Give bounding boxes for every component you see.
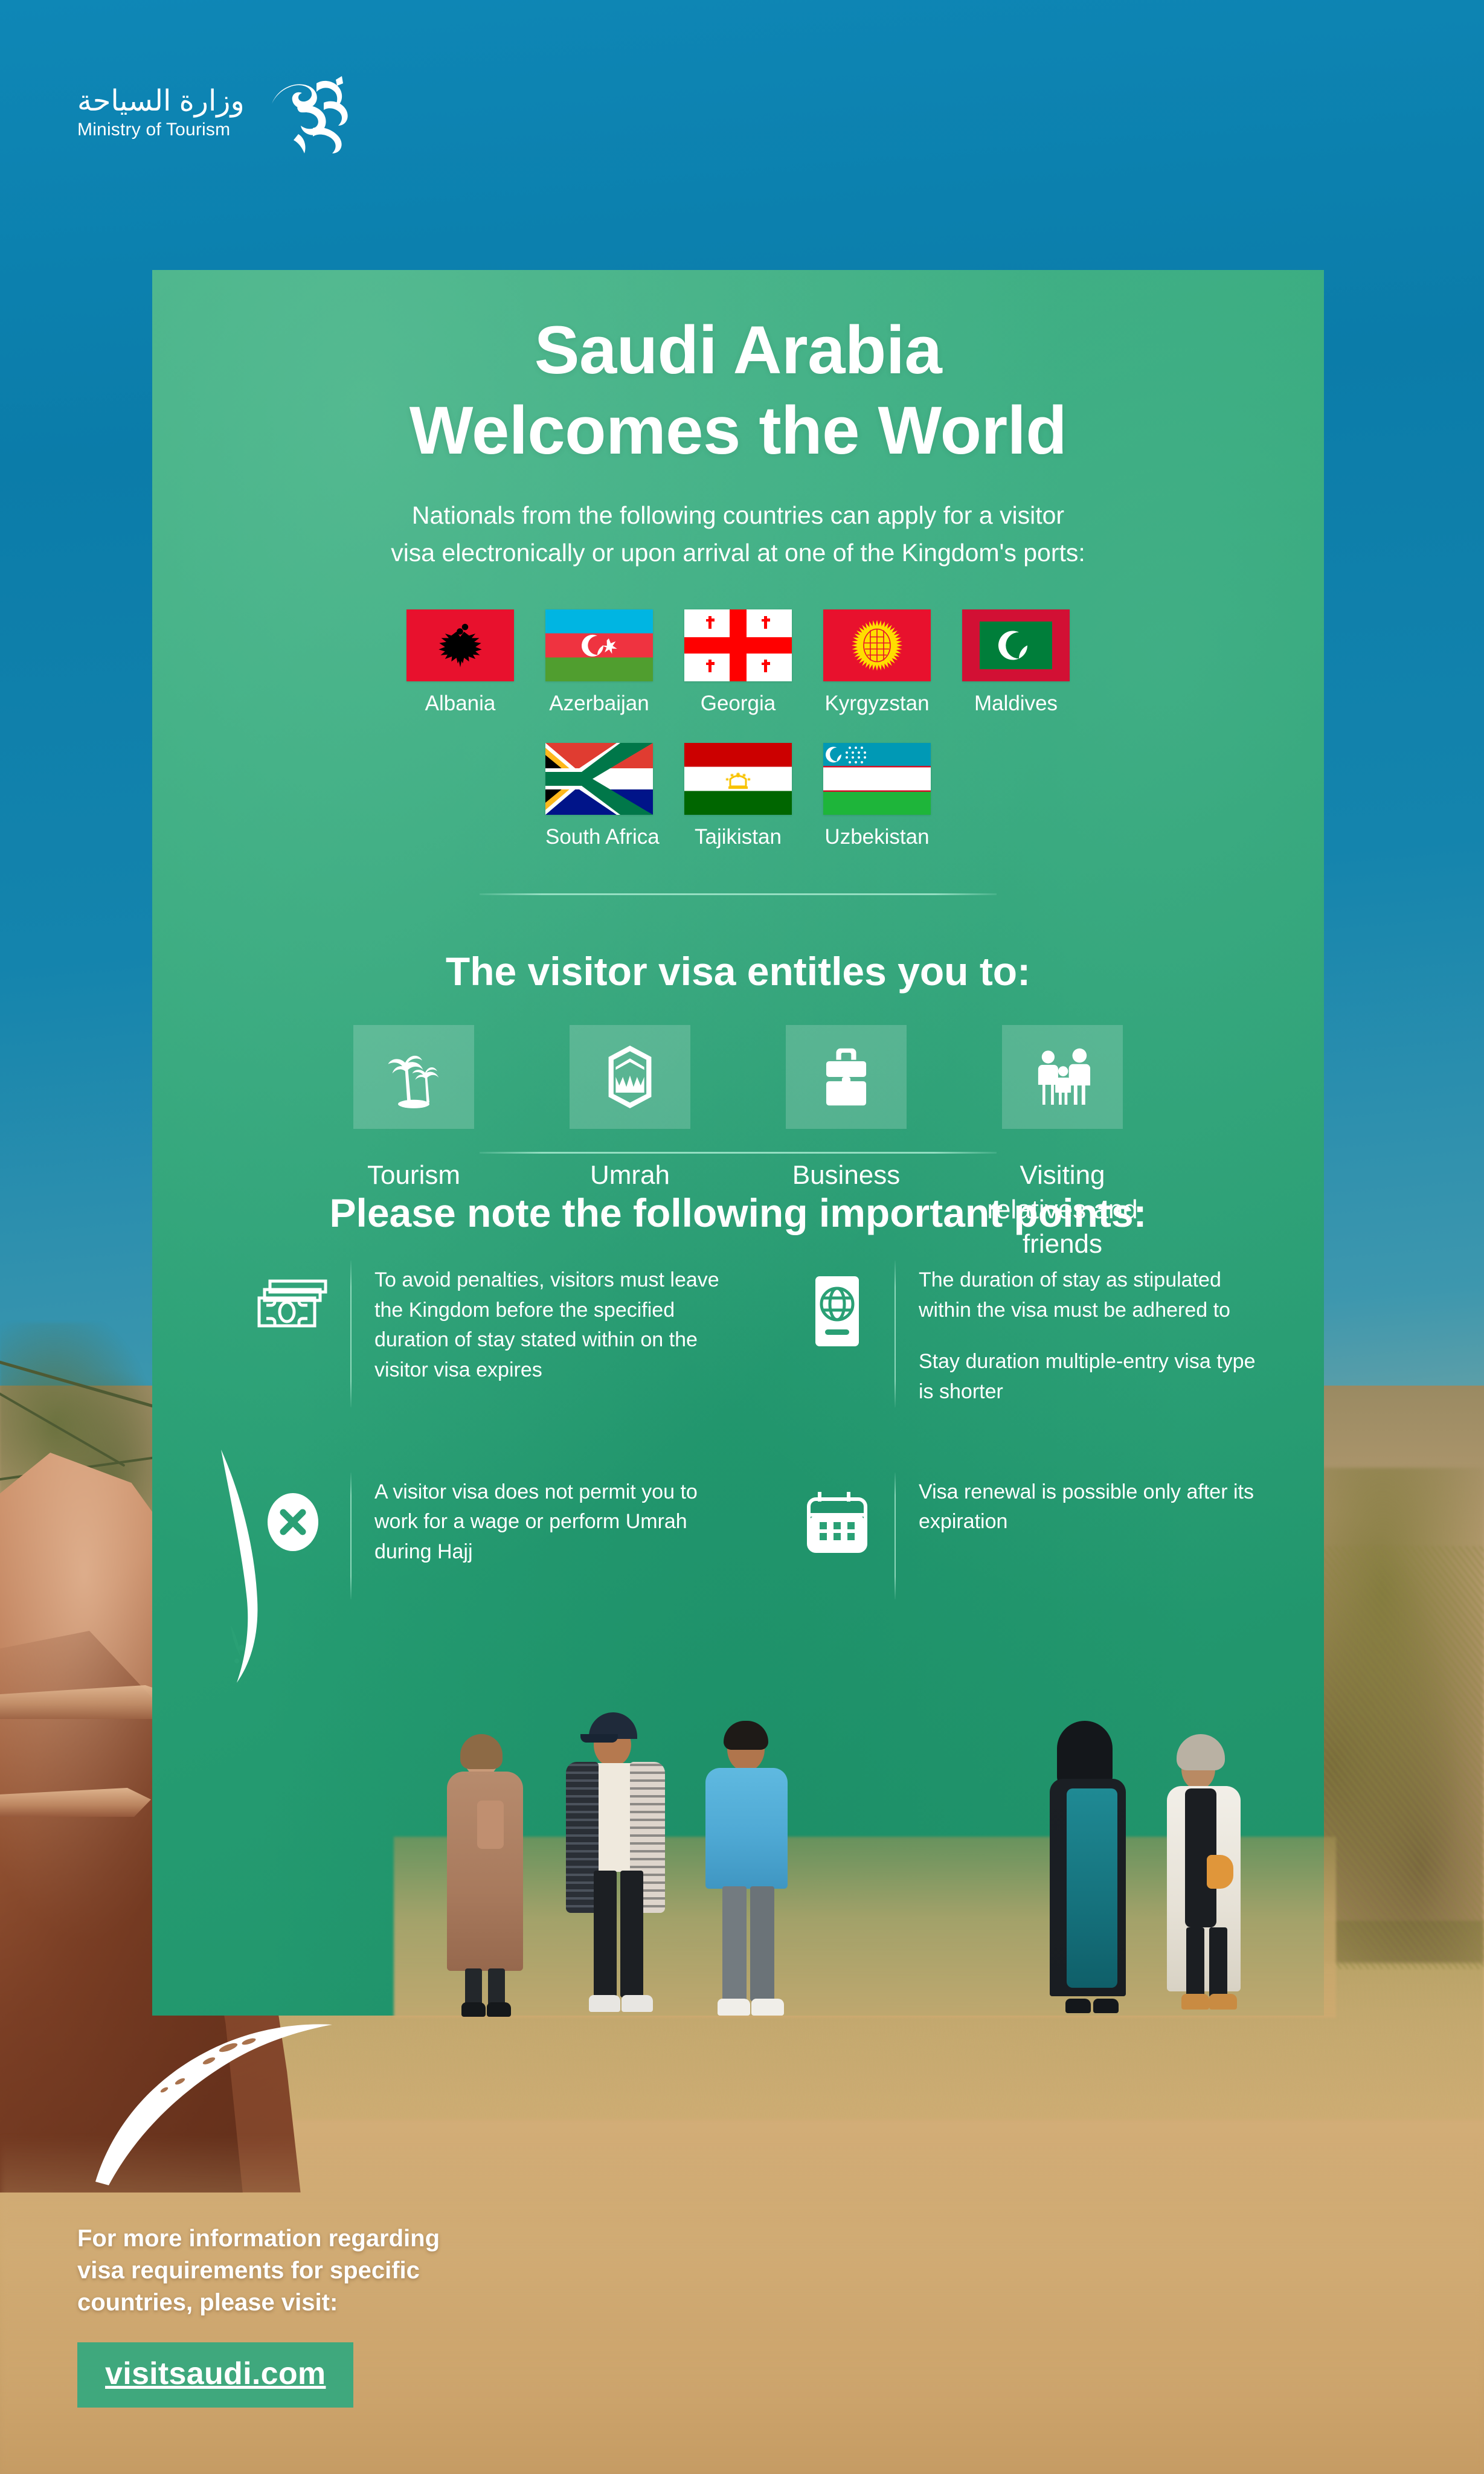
person-turban — [1177, 1734, 1225, 1770]
footer-line-2: visa requirements for specific — [77, 2257, 420, 2284]
tourism-calligraphy-emblem-icon — [260, 68, 352, 158]
entitlement-label: Tourism — [367, 1158, 460, 1192]
person-shoe — [622, 1995, 653, 2012]
briefcase-icon — [811, 1041, 882, 1113]
albania-flag-icon — [406, 609, 514, 681]
page-title: Saudi Arabia Welcomes the World — [152, 310, 1324, 471]
banknotes-icon — [254, 1274, 332, 1334]
country-item-uzbekistan: Uzbekistan — [823, 743, 931, 850]
entitlement-label: Umrah — [590, 1158, 670, 1192]
country-label: Maldives — [962, 691, 1070, 716]
calligraphy-brush-stroke-vertical-icon — [199, 1444, 314, 1685]
kyrgyzstan-flag-icon — [823, 609, 931, 681]
person-shawl — [1067, 1788, 1117, 1988]
family-icon — [1027, 1041, 1098, 1113]
country-item-kyrgyzstan: Kyrgyzstan — [823, 609, 931, 716]
country-item-tajikistan: Tajikistan — [684, 743, 792, 850]
person-leg — [488, 1968, 505, 2006]
maldives-flag-icon — [962, 609, 1070, 681]
footer-block: For more information regarding visa requ… — [77, 2223, 440, 2408]
country-label: Uzbekistan — [823, 824, 931, 850]
point-icon-wrap — [780, 1473, 895, 1557]
point-body: To avoid penalties, visitors must leave … — [374, 1261, 722, 1386]
point-divider-rule — [895, 1473, 896, 1599]
entitlement-label: Business — [792, 1158, 901, 1192]
person-leg — [722, 1886, 747, 2001]
person-leg — [594, 1871, 617, 1997]
footer-text: For more information regarding visa requ… — [77, 2223, 440, 2318]
person-shoe — [751, 1999, 784, 2016]
ministry-logo: وزارة السياحة Ministry of Tourism — [77, 68, 352, 158]
country-flags-row-1: Albania Azerbaijan — [152, 609, 1324, 716]
important-points-grid: To avoid penalties, visitors must leave … — [236, 1261, 1266, 1599]
country-item-azerbaijan: Azerbaijan — [545, 609, 653, 716]
person-hair — [460, 1734, 503, 1769]
country-item-south-africa: South Africa — [545, 743, 653, 850]
tajikistan-flag-icon — [684, 743, 792, 815]
section-divider — [480, 1152, 997, 1154]
entitlement-icon-tile — [1002, 1025, 1123, 1129]
entitlements-heading: The visitor visa entitles you to: — [152, 948, 1324, 995]
important-point-item: To avoid penalties, visitors must leave … — [236, 1261, 722, 1407]
point-text: Stay duration multiple-entry visa type i… — [919, 1347, 1266, 1407]
country-label: Georgia — [684, 691, 792, 716]
country-item-maldives: Maldives — [962, 609, 1070, 716]
person-shoe — [589, 1995, 620, 2012]
person-shoe — [718, 1999, 750, 2016]
point-icon-wrap — [780, 1261, 895, 1349]
person-shoe — [461, 2002, 486, 2017]
palm-trees-icon — [378, 1041, 449, 1113]
person-leg — [620, 1871, 643, 1997]
calligraphy-brush-stroke-horizontal-icon — [91, 1987, 356, 2186]
country-item-albania: Albania — [406, 609, 514, 716]
calendar-icon — [801, 1486, 873, 1557]
person-leg — [1186, 1927, 1204, 1997]
visitsaudi-link-button[interactable]: visitsaudi.com — [77, 2342, 353, 2408]
country-item-georgia: Georgia — [684, 609, 792, 716]
country-label: Kyrgyzstan — [823, 691, 931, 716]
uzbekistan-flag-icon — [823, 743, 931, 815]
georgia-flag-icon — [684, 609, 792, 681]
country-label: Tajikistan — [684, 824, 792, 850]
person-hair — [724, 1721, 768, 1750]
person-leg — [1209, 1927, 1227, 1997]
footer-line-3: countries, please visit: — [77, 2289, 338, 2316]
footer-line-1: For more information regarding — [77, 2225, 440, 2252]
person-torso — [705, 1768, 788, 1889]
kaaba-icon — [594, 1041, 666, 1113]
subtitle-line-1: Nationals from the following countries c… — [412, 501, 1064, 529]
country-flags-row-2: South Africa — [152, 743, 1324, 850]
person-shoe — [1065, 1999, 1091, 2013]
title-line-2: Welcomes the World — [410, 393, 1067, 468]
point-text: The duration of stay as stipulated withi… — [919, 1265, 1266, 1325]
important-point-item: The duration of stay as stipulated withi… — [780, 1261, 1266, 1407]
point-text: To avoid penalties, visitors must leave … — [374, 1265, 722, 1386]
entitlement-icon-tile — [353, 1025, 474, 1129]
hero-subtitle: Nationals from the following countries c… — [152, 496, 1324, 572]
important-points-heading: Please note the following important poin… — [152, 1189, 1324, 1237]
person-cap-brim — [580, 1734, 618, 1743]
person-shoe — [1093, 1999, 1119, 2013]
country-label: Albania — [406, 691, 514, 716]
main-content-panel: Saudi Arabia Welcomes the World National… — [152, 270, 1324, 2016]
person-figure — [690, 1710, 805, 2018]
point-text: A visitor visa does not permit you to wo… — [374, 1477, 722, 1567]
point-text: Visa renewal is possible only after its … — [919, 1477, 1266, 1537]
logo-english-text: Ministry of Tourism — [77, 119, 245, 141]
point-body: Visa renewal is possible only after its … — [919, 1473, 1266, 1537]
passport-globe-icon — [808, 1274, 866, 1349]
point-body: The duration of stay as stipulated withi… — [919, 1261, 1266, 1407]
entitlement-icon-tile — [786, 1025, 907, 1129]
group-of-travellers-photo — [394, 1680, 1336, 2018]
important-point-item: Visa renewal is possible only after its … — [780, 1473, 1266, 1599]
south-africa-flag-icon — [545, 743, 653, 815]
subtitle-line-2: visa electronically or upon arrival at o… — [391, 539, 1085, 567]
person-figure — [1028, 1716, 1149, 2018]
point-body: A visitor visa does not permit you to wo… — [374, 1473, 722, 1567]
person-figure — [554, 1704, 675, 2018]
section-divider — [480, 893, 997, 895]
entitlement-icon-tile — [570, 1025, 690, 1129]
point-divider-rule — [350, 1473, 352, 1599]
person-figure — [1154, 1728, 1268, 2018]
person-shoe — [1209, 1994, 1237, 2010]
country-label: Azerbaijan — [545, 691, 653, 716]
azerbaijan-flag-icon — [545, 609, 653, 681]
person-arm — [477, 1801, 504, 1849]
title-line-1: Saudi Arabia — [535, 312, 942, 388]
person-figure — [430, 1734, 539, 2018]
person-shoe — [487, 2002, 511, 2017]
person-bag — [1207, 1855, 1233, 1889]
point-icon-wrap — [236, 1261, 350, 1334]
point-divider-rule — [895, 1261, 896, 1407]
person-leg — [465, 1968, 482, 2006]
country-label: South Africa — [545, 824, 653, 850]
person-shoe — [1181, 1994, 1209, 2010]
logo-arabic-text: وزارة السياحة — [77, 85, 245, 118]
person-leg — [750, 1886, 774, 2001]
point-divider-rule — [350, 1261, 352, 1407]
